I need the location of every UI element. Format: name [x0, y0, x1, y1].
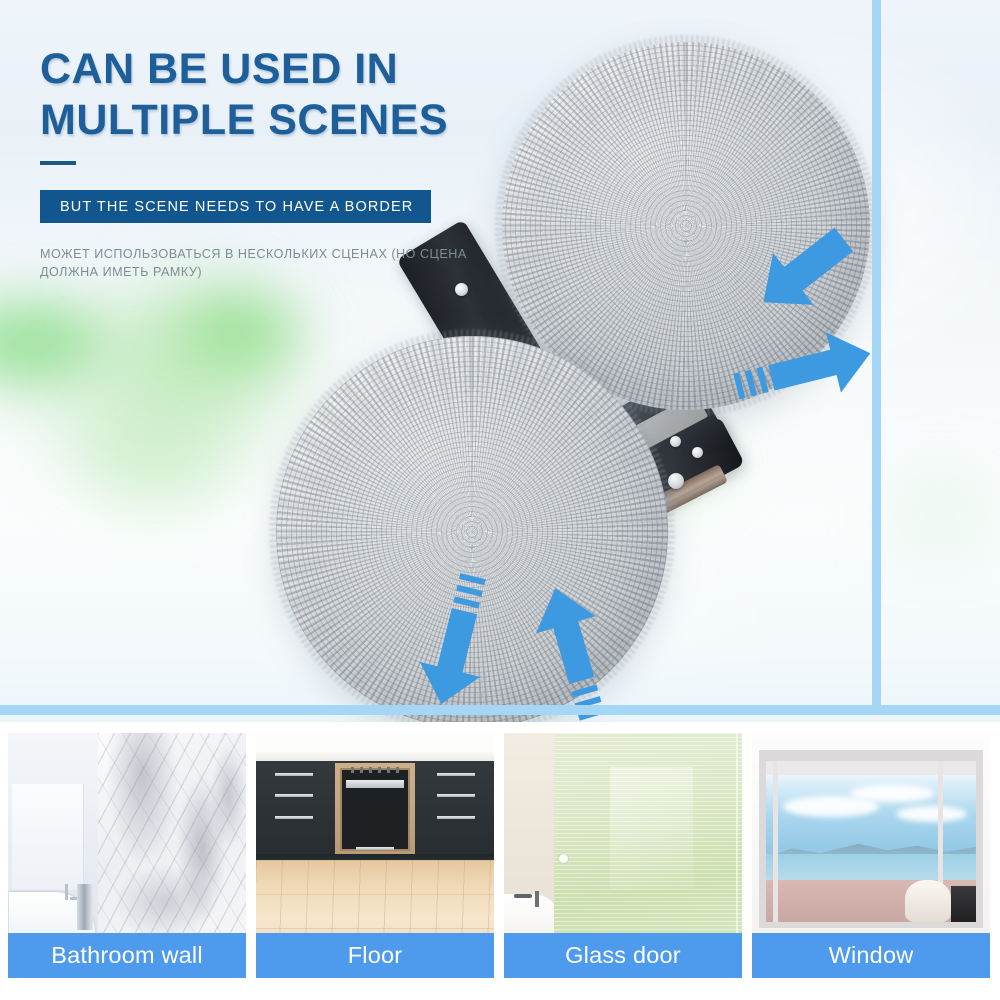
decorative-frame-horizontal-line	[0, 705, 881, 715]
background-bokeh-green	[880, 470, 1000, 560]
background-bokeh-green	[96, 288, 296, 406]
dark-furniture	[951, 886, 976, 921]
glass-door-edge	[736, 733, 738, 945]
window-glass	[766, 761, 975, 922]
chrome-fixture	[77, 884, 93, 930]
background-bokeh-green	[610, 430, 730, 502]
window-mullion	[773, 761, 778, 922]
scene-label-window: Window	[752, 933, 990, 978]
screw-icon	[668, 473, 684, 489]
product-care-label	[636, 394, 708, 449]
scene-image-window	[752, 733, 990, 945]
faucet-icon	[65, 884, 68, 900]
screw-icon	[455, 283, 468, 296]
upper-round-mop-pad	[502, 42, 870, 410]
faucet-icon	[514, 894, 532, 898]
decorative-frame-vertical-line	[872, 0, 881, 712]
product-care-label	[460, 411, 543, 474]
background-haze	[0, 540, 1000, 722]
title-underline-rule	[40, 161, 76, 165]
scene-label-glass-door: Glass door	[504, 933, 742, 978]
cabinet-handle	[275, 816, 313, 819]
decorative-frame-horizontal-line-right	[881, 705, 1000, 715]
russian-subtitle-text: МОЖЕТ ИСПОЛЬЗОВАТЬСЯ В НЕСКОЛЬКИХ СЦЕНАХ…	[40, 245, 480, 281]
background-bokeh-white	[300, 520, 720, 720]
background-bokeh-white	[600, 80, 980, 340]
mop-head-bracket	[565, 368, 729, 510]
background-bokeh-green	[186, 292, 296, 368]
cabinet-handle	[275, 794, 313, 797]
motion-arrow-right-icon	[756, 330, 874, 404]
frosted-glass-door	[554, 733, 742, 945]
scene-image-floor	[256, 733, 494, 945]
glass-reflection	[610, 767, 693, 890]
cabinet-handle	[437, 816, 475, 819]
mop-handle-lower	[603, 416, 745, 526]
marble-wall-texture	[98, 733, 246, 945]
screw-icon	[692, 447, 703, 458]
sea-water	[766, 854, 975, 880]
faucet-icon	[535, 891, 539, 907]
subtitle-banner: BUT THE SCENE NEEDS TO HAVE A BORDER	[40, 190, 431, 223]
scene-card-bathroom-wall[interactable]: Bathroom wall	[8, 733, 246, 978]
hero-section: CAN BE USED IN MULTIPLE SCENES BUT THE S…	[0, 0, 1000, 722]
bathroom-panel	[12, 784, 84, 890]
background-bokeh-green	[40, 360, 270, 468]
motion-arrow-up-left-icon	[750, 226, 862, 312]
scene-card-glass-door[interactable]: Glass door	[504, 733, 742, 978]
screw-icon	[670, 436, 681, 447]
oven-appliance	[335, 763, 416, 856]
kitchen-countertop	[256, 750, 494, 761]
scene-label-bathroom-wall: Bathroom wall	[8, 933, 246, 978]
background-bokeh-green	[0, 300, 104, 386]
motion-arrow-up-icon	[530, 582, 612, 704]
oven-control-knobs	[351, 767, 399, 773]
cabinet-handle	[275, 773, 313, 776]
background-bokeh-green	[80, 418, 230, 510]
motion-arrow-down-icon	[416, 590, 494, 708]
scene-image-bathroom-wall	[8, 733, 246, 945]
scene-label-floor: Floor	[256, 933, 494, 978]
page-title: CAN BE USED IN MULTIPLE SCENES	[40, 44, 448, 146]
scene-card-window[interactable]: Window	[752, 733, 990, 978]
door-knob-icon	[559, 854, 568, 863]
cabinet-handle	[437, 794, 475, 797]
scene-thumbnail-row: Bathroom wall	[0, 733, 1000, 985]
product-infographic-page: CAN BE USED IN MULTIPLE SCENES BUT THE S…	[0, 0, 1000, 1000]
window-top-transom	[766, 761, 975, 775]
cabinet-handle	[356, 847, 394, 850]
lower-round-mop-pad	[276, 336, 668, 722]
scene-image-glass-door	[504, 733, 742, 945]
cabinet-handle	[437, 773, 475, 776]
oven-handle-bar	[346, 780, 403, 788]
cloud-shape	[896, 806, 967, 822]
metal-clip	[644, 464, 728, 520]
scene-card-floor[interactable]: Floor	[256, 733, 494, 978]
dog-figure	[905, 880, 951, 922]
